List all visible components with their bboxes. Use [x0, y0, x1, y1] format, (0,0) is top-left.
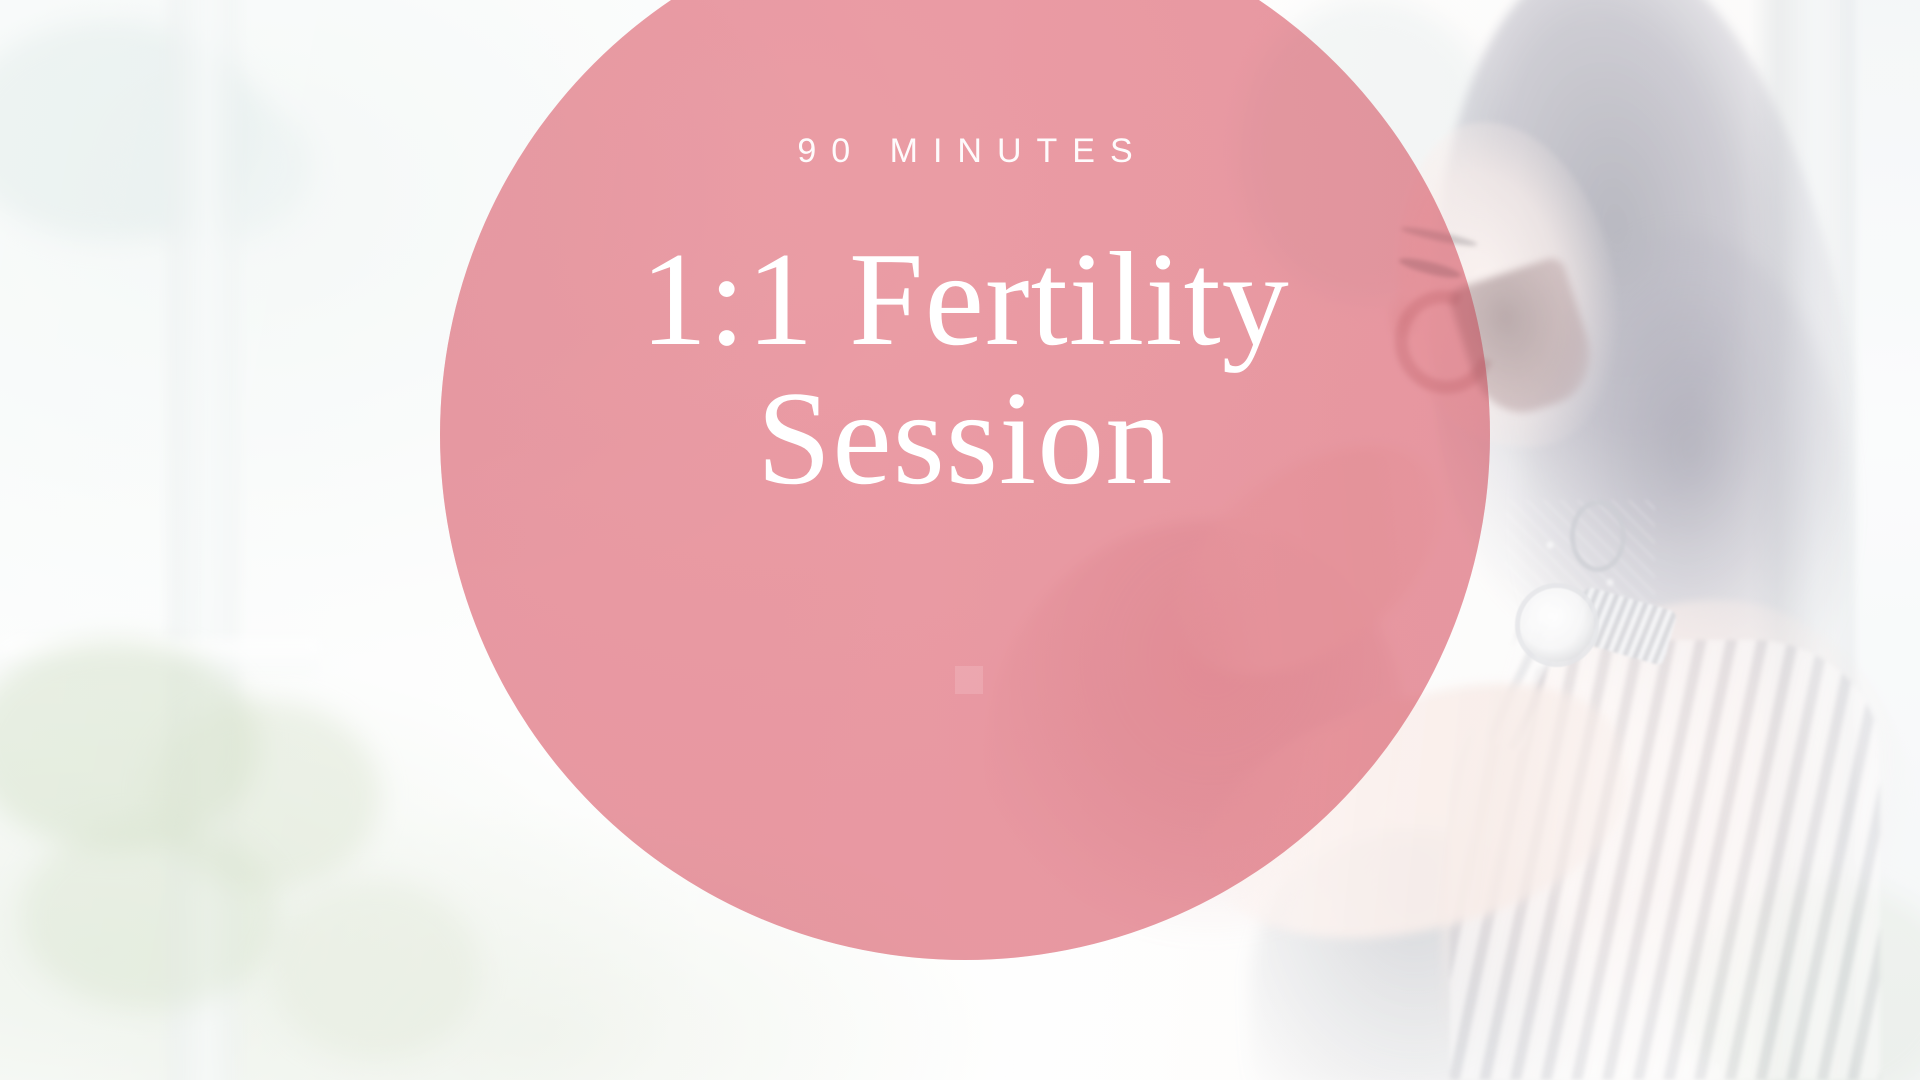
light-square-artifact [955, 666, 983, 694]
promo-banner: 90 MINUTES 1:1 Fertility Session [0, 0, 1920, 1080]
